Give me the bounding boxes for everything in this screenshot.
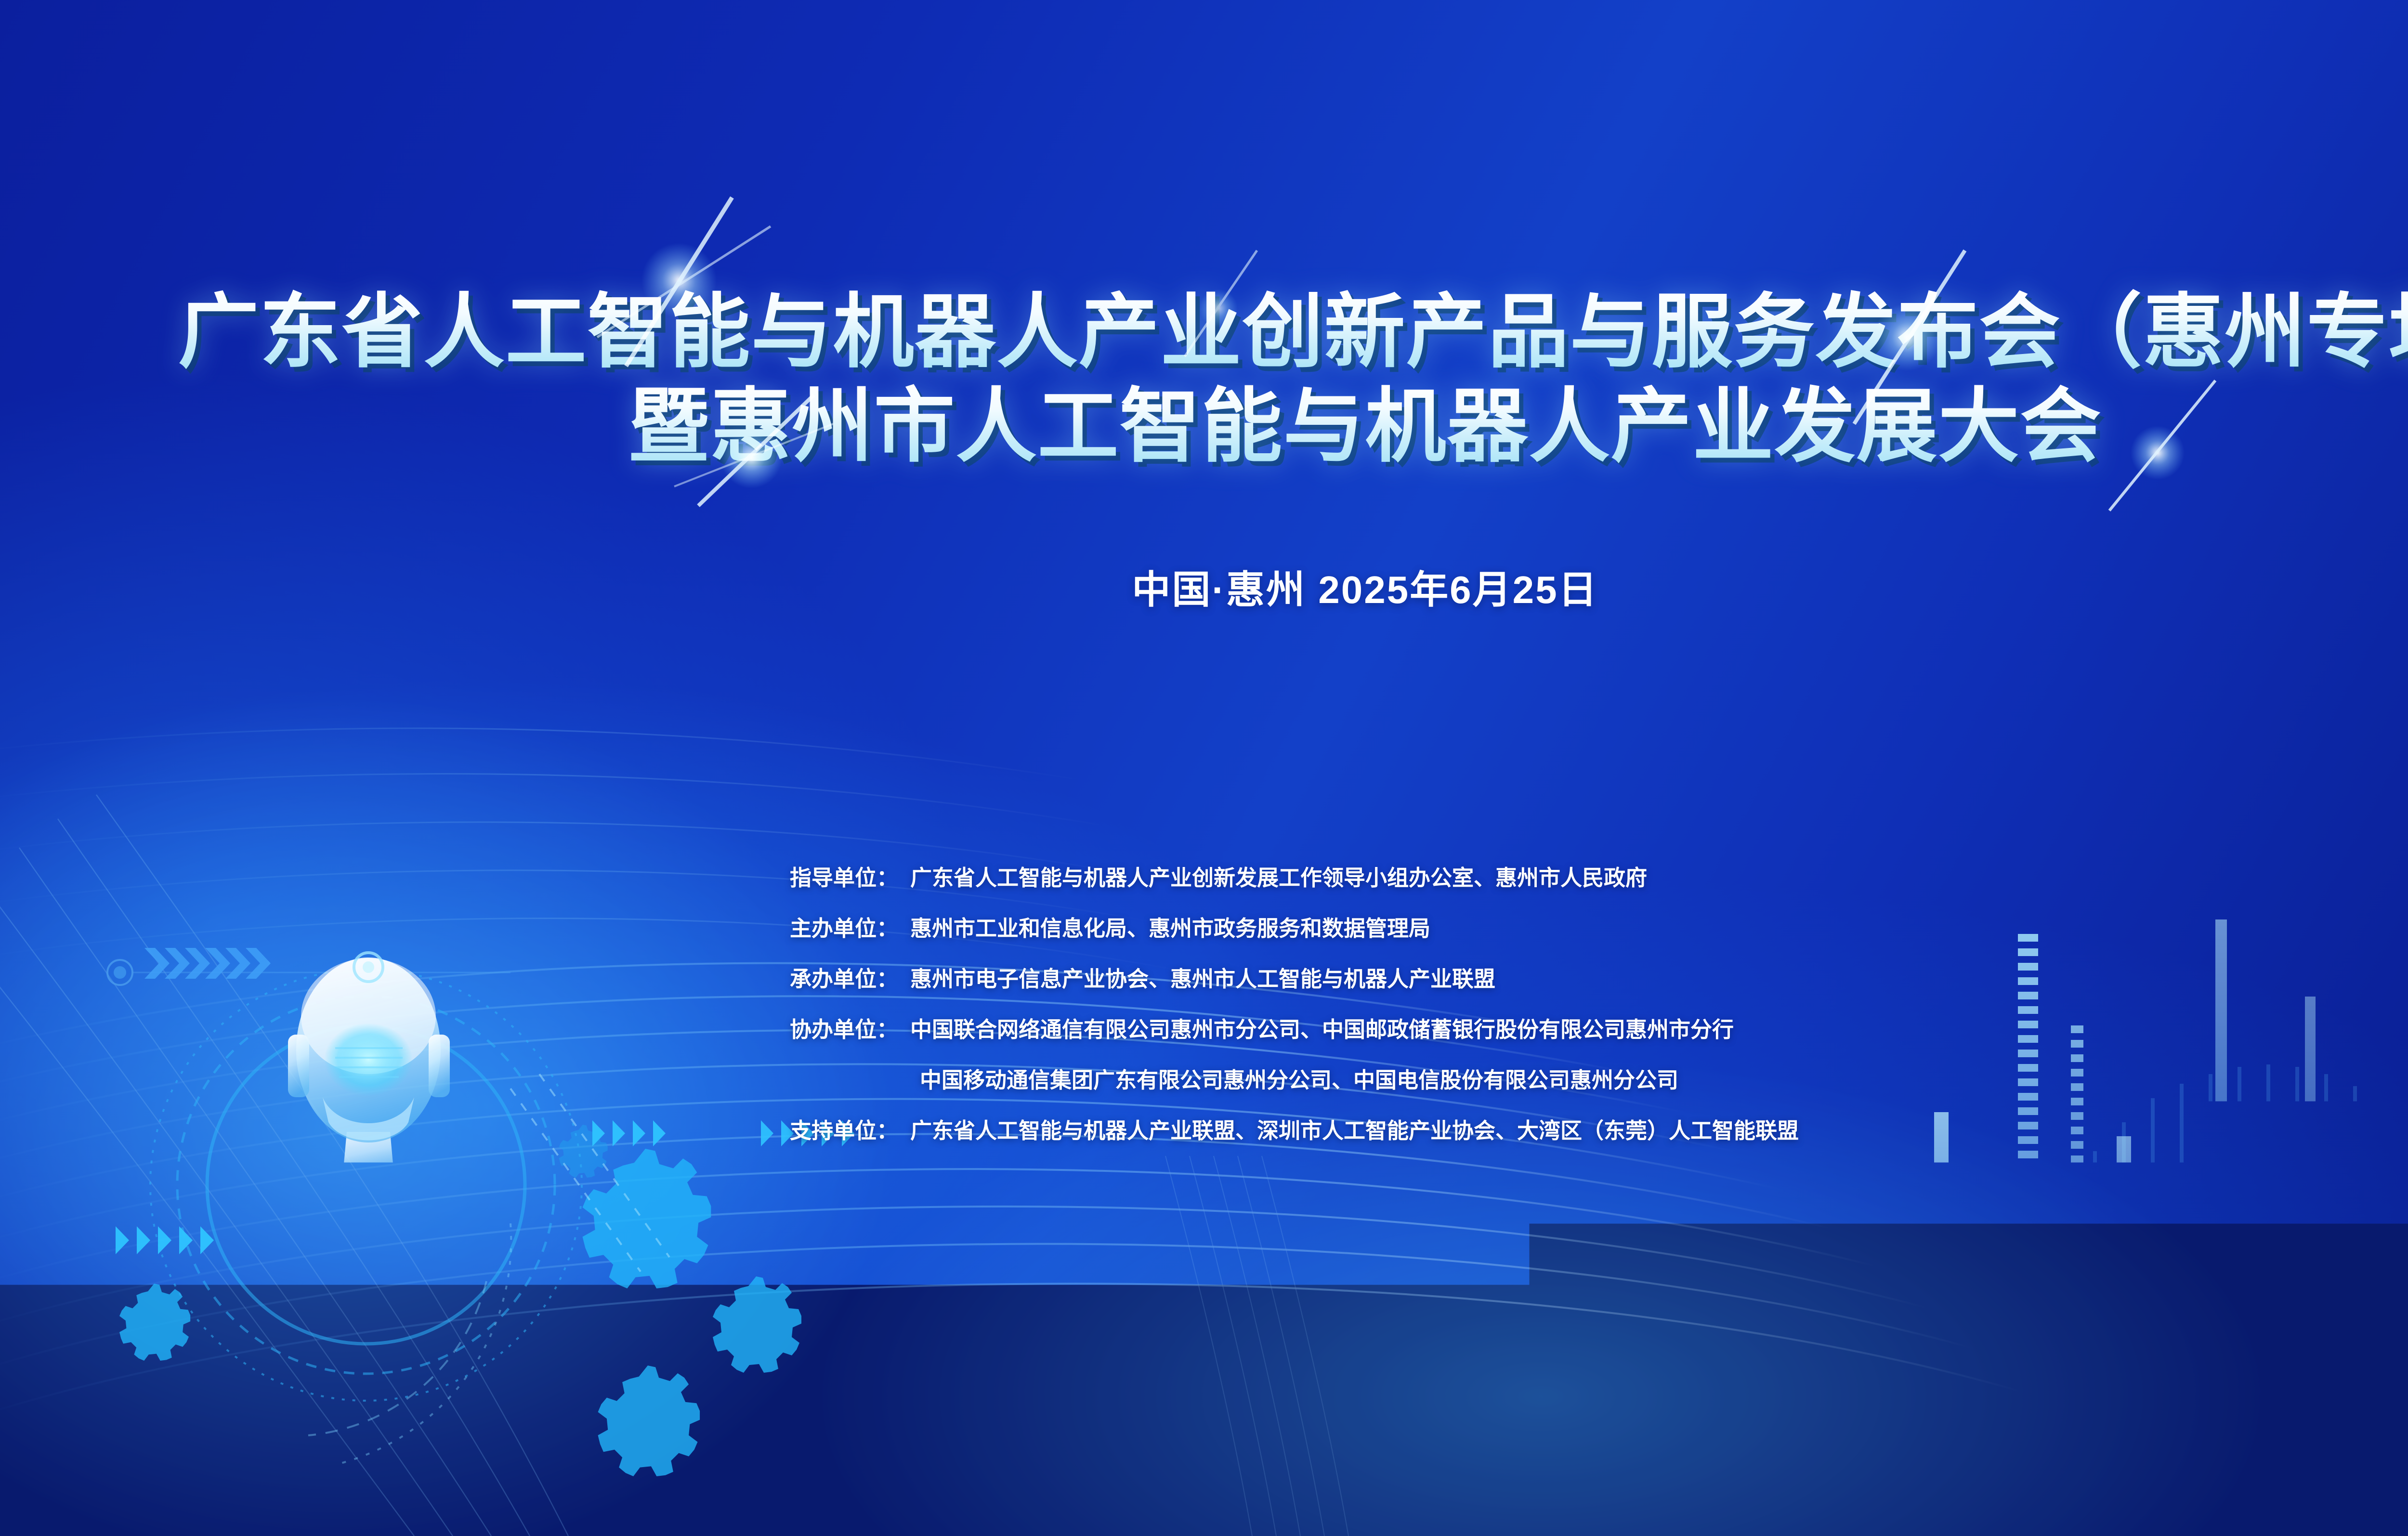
organization-label: 承办单位： — [790, 968, 910, 990]
poster-headline: 广东省人工智能与机器人产业创新产品与服务发布会（惠州专场） 暨惠州市人工智能与机… — [0, 289, 2408, 469]
chevron-arrows-right-outline — [713, 1180, 872, 1219]
chevron-arrows-bottom-right — [732, 1382, 891, 1421]
organization-label: 支持单位： — [790, 1120, 910, 1142]
organization-value: 惠州市电子信息产业协会、惠州市人工智能与机器人产业联盟 — [910, 968, 1799, 990]
organization-label: 主办单位： — [790, 918, 910, 939]
poster-subtitle: 中国·惠州 2025年6月25日 — [0, 559, 2408, 615]
organization-row: 协办单位： 中国联合网络通信有限公司惠州市分公司、中国邮政储蓄银行股份有限公司惠… — [790, 1019, 1799, 1069]
organization-value: 中国移动通信集团广东有限公司惠州分公司、中国电信股份有限公司惠州分公司 — [910, 1069, 1799, 1091]
headline-line-2: 暨惠州市人工智能与机器人产业发展大会 — [0, 383, 2408, 469]
organizations-block: 指导单位： 广东省人工智能与机器人产业创新发展工作领导小组办公室、惠州市人民政府… — [790, 867, 1799, 1170]
organization-label: 协办单位： — [790, 1019, 910, 1040]
organization-value: 广东省人工智能与机器人产业联盟、深圳市人工智能产业协会、大湾区（东莞）人工智能联… — [910, 1120, 1799, 1142]
organization-row: 支持单位： 广东省人工智能与机器人产业联盟、深圳市人工智能产业协会、大湾区（东莞… — [790, 1120, 1799, 1170]
organization-row: 承办单位： 惠州市电子信息产业协会、惠州市人工智能与机器人产业联盟 — [790, 968, 1799, 1019]
headline-line-1: 广东省人工智能与机器人产业创新产品与服务发布会（惠州专场） — [0, 289, 2408, 375]
organization-row: 指导单位： 广东省人工智能与机器人产业创新发展工作领导小组办公室、惠州市人民政府 — [790, 867, 1799, 918]
organization-value: 广东省人工智能与机器人产业创新发展工作领导小组办公室、惠州市人民政府 — [910, 867, 1799, 889]
ai-word: AI — [2138, 1238, 2353, 1445]
organization-row-continuation: 协办单位： 中国移动通信集团广东有限公司惠州分公司、中国电信股份有限公司惠州分公… — [790, 1069, 1799, 1120]
humanoid-robot-figure — [48, 906, 698, 1536]
poster-canvas: AI 广东省人工智能与机器人产业创新产品与服务发布会（惠州专场） 暨惠州市人工智… — [0, 0, 2408, 1536]
organization-row: 主办单位： 惠州市工业和信息化局、惠州市政务服务和数据管理局 — [790, 918, 1799, 968]
organization-value: 惠州市工业和信息化局、惠州市政务服务和数据管理局 — [910, 918, 1799, 939]
organization-label: 指导单位： — [790, 867, 910, 889]
organization-value: 中国联合网络通信有限公司惠州市分公司、中国邮政储蓄银行股份有限公司惠州市分行 — [910, 1019, 1799, 1040]
